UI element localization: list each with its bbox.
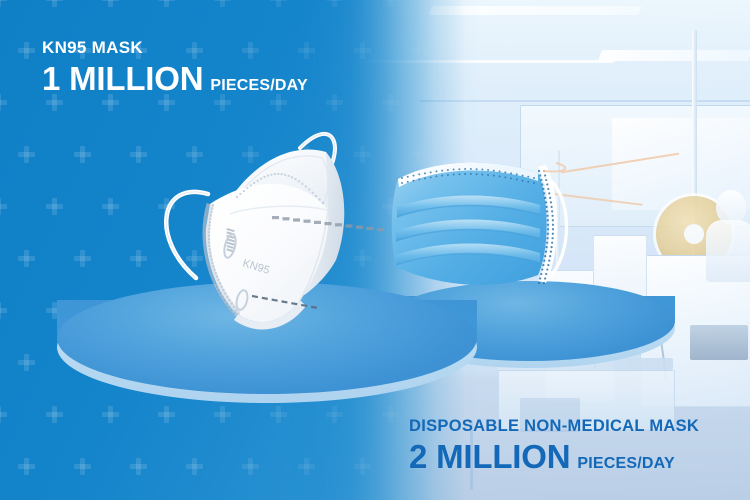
disposable-product-label: DISPOSABLE NON-MEDICAL MASK — [409, 416, 699, 436]
kn95-mask-product: KN95 — [150, 118, 390, 333]
kn95-product-label: KN95 MASK — [42, 38, 308, 58]
kn95-capacity-unit: PIECES/DAY — [210, 77, 307, 95]
disposable-capacity-number: 2 MILLION — [409, 438, 570, 476]
surgical-mask-product — [388, 155, 573, 305]
bottom-capacity-callout: DISPOSABLE NON-MEDICAL MASK 2 MILLION PI… — [409, 416, 699, 476]
ear-loop — [166, 192, 208, 278]
mask-capacity-banner: KN95 KN95 MASK 1 MILLION PIECES/DAY DISP… — [0, 0, 750, 500]
disposable-capacity-unit: PIECES/DAY — [577, 455, 674, 473]
surgical-mask-icon — [388, 155, 573, 305]
kn95-mask-icon: KN95 — [150, 118, 390, 333]
kn95-capacity-number: 1 MILLION — [42, 60, 203, 98]
top-capacity-callout: KN95 MASK 1 MILLION PIECES/DAY — [42, 38, 308, 98]
